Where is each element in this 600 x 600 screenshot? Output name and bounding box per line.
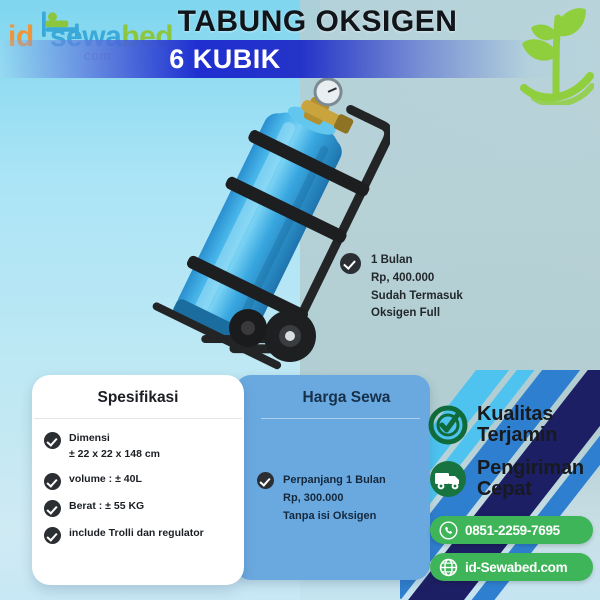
spec-item-line-1: volume : ± 40L [69,472,142,488]
list-item: volume : ± 40L [44,472,234,490]
spec-panel-title: Spesifikasi [32,375,244,418]
trolley-wheels [229,309,316,362]
delivery-truck-icon [428,459,468,499]
spec-panel: Spesifikasi Dimensi ± 22 x 22 x 148 cm v… [32,375,244,585]
spec-item-line-1: include Trolli dan regulator [69,526,204,542]
promo-line-2: Rp, 400.000 [371,270,463,288]
spec-list: Dimensi ± 22 x 22 x 148 cm volume : ± 40… [32,419,244,544]
leaf-sprig-icon [494,0,594,105]
check-icon [44,473,61,490]
globe-icon [439,558,458,577]
check-icon [44,527,61,544]
list-item: Dimensi ± 22 x 22 x 148 cm [44,431,234,463]
price-panel: Harga Sewa Perpanjang 1 Bulan Rp, 300.00… [235,375,430,580]
badge-shipping: Pengiriman Cepat [428,458,584,500]
badge-shipping-line-2: Cepat [477,479,584,500]
price-line-2: Rp, 300.000 [283,489,386,507]
spec-item-line-1: Dimensi [69,431,160,447]
check-icon [257,472,274,489]
badge-shipping-line-1: Pengiriman [477,458,584,479]
spec-item-line-2: ± 22 x 22 x 148 cm [69,447,160,463]
list-item: Berat : ± 55 KG [44,499,234,517]
check-icon [44,432,61,449]
website-url: id-Sewabed.com [465,560,567,575]
check-icon [340,253,361,274]
price-line-3: Tanpa isi Oksigen [283,507,386,525]
promo-line-3: Sudah Termasuk [371,288,463,306]
price-panel-title: Harga Sewa [235,375,430,418]
oxygen-cylinder-on-trolley-icon [140,78,390,378]
whatsapp-icon [439,521,458,540]
badge-quality: Kualitas Terjamin [428,404,557,446]
price-line-1: Perpanjang 1 Bulan [283,471,386,489]
check-seal-icon [428,405,468,445]
website-button[interactable]: id-Sewabed.com [430,553,593,581]
poster-canvas: idxsewabed com TABUNG OKSIGEN 6 KUBIK [0,0,600,600]
phone-contact-button[interactable]: 0851-2259-7695 [430,516,593,544]
price-panel-item: Perpanjang 1 Bulan Rp, 300.000 Tanpa isi… [235,419,430,525]
check-icon [44,500,61,517]
badge-quality-line-1: Kualitas [477,404,557,425]
promo-callout: 1 Bulan Rp, 400.000 Sudah Termasuk Oksig… [340,252,463,323]
promo-line-1: 1 Bulan [371,252,463,270]
spec-item-line-1: Berat : ± 55 KG [69,499,144,515]
promo-line-4: Oksigen Full [371,305,463,323]
badge-quality-line-2: Terjamin [477,425,557,446]
phone-number: 0851-2259-7695 [465,523,560,538]
list-item: include Trolli dan regulator [44,526,234,544]
